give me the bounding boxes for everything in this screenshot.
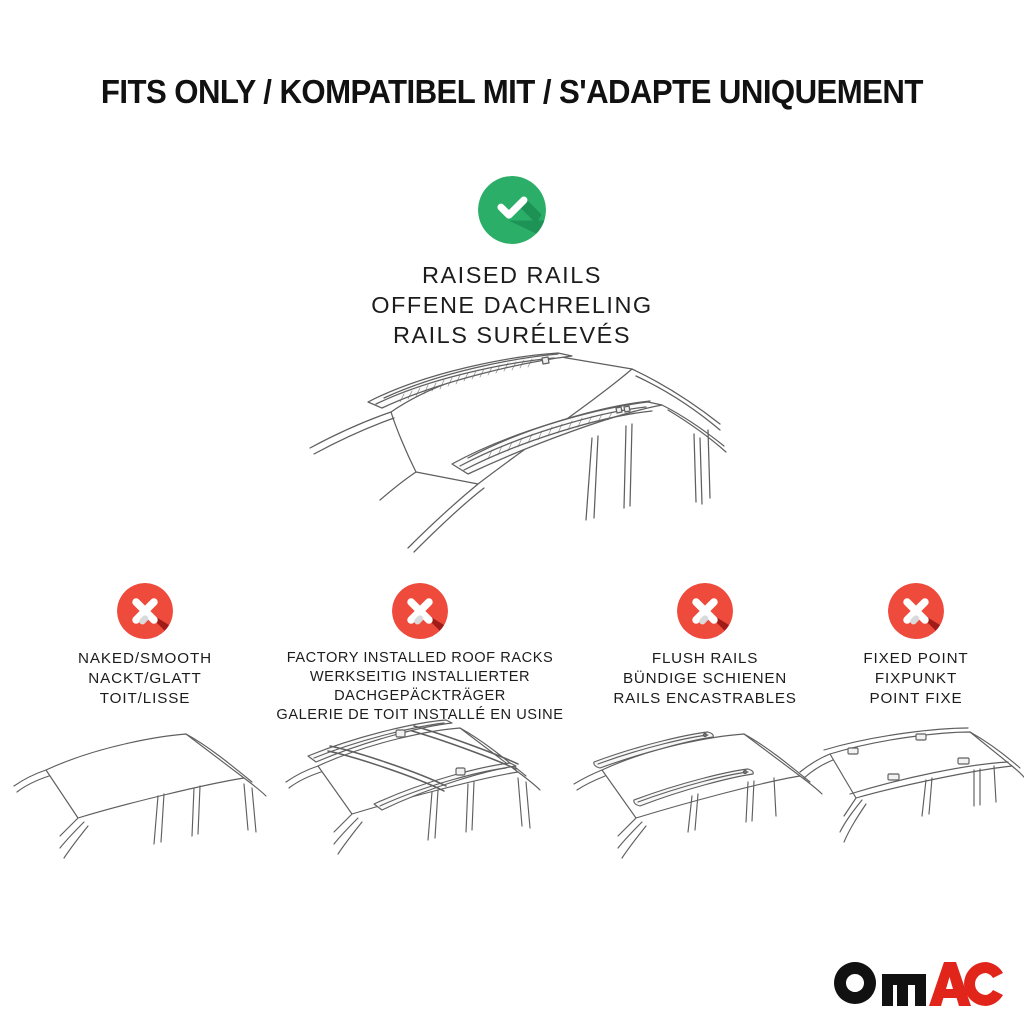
x-circle-icon bbox=[117, 583, 173, 639]
incompatible-label-de: NACKT/GLATT bbox=[25, 669, 265, 689]
page-title-text: FITS ONLY / KOMPATIBEL MIT / S'ADAPTE UN… bbox=[101, 74, 923, 112]
compatible-labels: RAISED RAILS OFFENE DACHRELING RAILS SUR… bbox=[0, 261, 1024, 351]
incompatible-label-fr: TOIT/LISSE bbox=[25, 689, 265, 709]
incompatible-label-de: BÜNDIGE SCHIENEN bbox=[585, 669, 825, 689]
car-roof-factory-roof-racks-illustration bbox=[278, 718, 556, 910]
incompatible-item-naked-smooth: NAKED/SMOOTH NACKT/GLATT TOIT/LISSE bbox=[25, 583, 265, 708]
x-circle-icon bbox=[392, 583, 448, 639]
car-roof-fixed-point-illustration bbox=[798, 726, 1024, 910]
incompatible-label-en: NAKED/SMOOTH bbox=[25, 649, 265, 669]
compatible-label-de: OFFENE DACHRELING bbox=[0, 291, 1024, 321]
incompatible-label-de-2: DACHGEPÄCKTRÄGER bbox=[265, 687, 575, 706]
incompatible-labels: FLUSH RAILS BÜNDIGE SCHIENEN RAILS ENCAS… bbox=[585, 649, 825, 708]
car-roof-raised-rails-illustration bbox=[296, 352, 732, 558]
incompatible-labels: FACTORY INSTALLED ROOF RACKS WERKSEITIG … bbox=[265, 649, 575, 725]
incompatible-label-de-1: WERKSEITIG INSTALLIERTER bbox=[265, 668, 575, 687]
incompatible-labels: NAKED/SMOOTH NACKT/GLATT TOIT/LISSE bbox=[25, 649, 265, 708]
incompatible-label-en: FACTORY INSTALLED ROOF RACKS bbox=[265, 649, 575, 668]
compatible-label-en: RAISED RAILS bbox=[0, 261, 1024, 291]
page-title: FITS ONLY / KOMPATIBEL MIT / S'ADAPTE UN… bbox=[0, 74, 1024, 112]
incompatible-label-fr: RAILS ENCASTRABLES bbox=[585, 689, 825, 709]
incompatible-labels: FIXED POINT FIXPUNKT POINT FIXE bbox=[828, 649, 1004, 708]
incompatible-label-en: FLUSH RAILS bbox=[585, 649, 825, 669]
incompatible-item-factory-roof-racks: FACTORY INSTALLED ROOF RACKS WERKSEITIG … bbox=[265, 583, 575, 725]
car-roof-naked-smooth-illustration bbox=[8, 726, 270, 910]
check-circle-icon bbox=[478, 176, 546, 244]
incompatible-item-fixed-point: FIXED POINT FIXPUNKT POINT FIXE bbox=[828, 583, 1004, 708]
incompatible-label-fr: POINT FIXE bbox=[828, 689, 1004, 709]
omac-logo bbox=[832, 960, 1004, 1008]
compatible-section: RAISED RAILS OFFENE DACHRELING RAILS SUR… bbox=[0, 176, 1024, 351]
x-circle-icon bbox=[677, 583, 733, 639]
incompatible-label-de: FIXPUNKT bbox=[828, 669, 1004, 689]
x-circle-icon bbox=[888, 583, 944, 639]
incompatible-item-flush-rails: FLUSH RAILS BÜNDIGE SCHIENEN RAILS ENCAS… bbox=[585, 583, 825, 708]
incompatible-label-en: FIXED POINT bbox=[828, 649, 1004, 669]
compatible-label-fr: RAILS SURÉLEVÉS bbox=[0, 321, 1024, 351]
